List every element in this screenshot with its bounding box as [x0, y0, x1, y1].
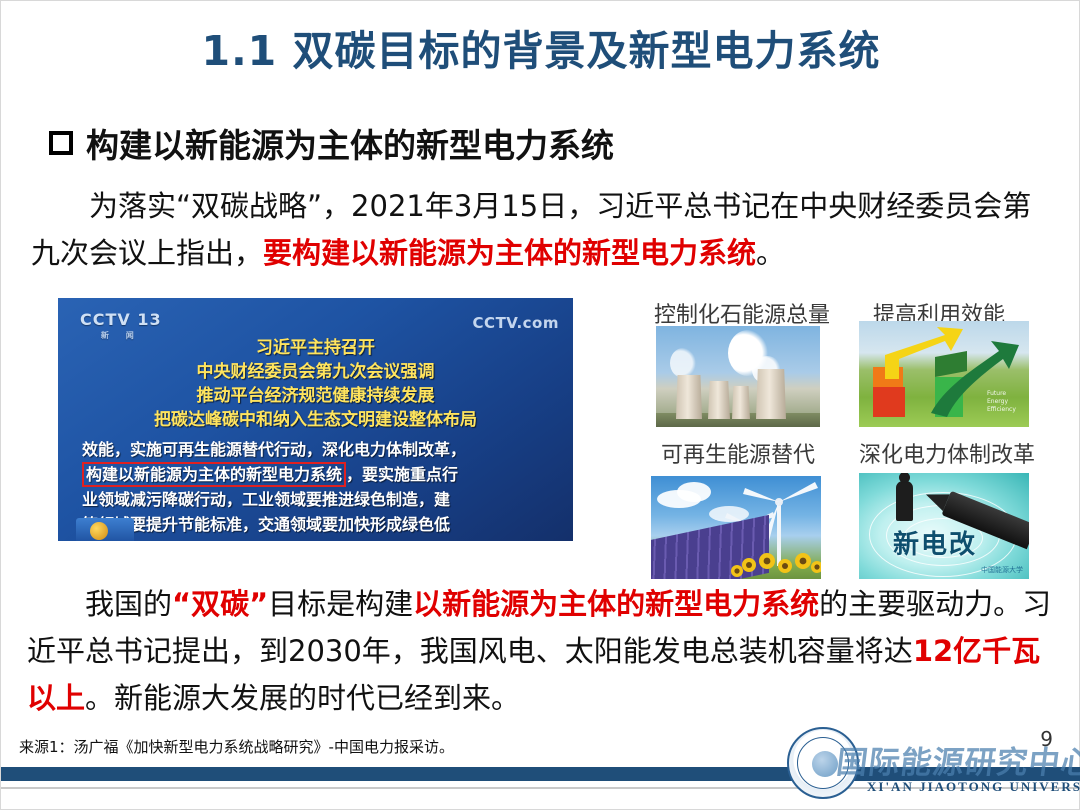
para-top-seg3: 。 [756, 236, 785, 270]
cctv-channel-number: 13 [137, 310, 161, 329]
cctv-news-screenshot: CCTV 13 新 闻 CCTV.com 习近平主持召开 中央财经委员会第九次会… [58, 298, 573, 541]
cctv-boxed-highlight: 构建以新能源为主体的新型电力系统 [82, 462, 346, 487]
para-bottom-seg3: 目标是构建 [268, 587, 413, 621]
photo4-person-icon [896, 481, 913, 521]
cctv-headline: 习近平主持召开 中央财经委员会第九次会议强调 推动平台经济规范健康持续发展 把碳… [58, 336, 573, 432]
photo-power-reform: 新电改 中国能源大学 [859, 473, 1029, 579]
cctv-body-line-1: 效能，实施可再生能源替代行动，深化电力体制改革， [82, 437, 552, 462]
photo1-plume-a [670, 348, 696, 378]
cctv-body-line-3: 业领域减污降碳行动，工业领域要推进绿色制造，建 [82, 487, 552, 512]
arrows-graphic-icon: Future Energy Efficiency [859, 321, 1029, 427]
svg-text:Energy: Energy [987, 398, 1008, 405]
cctv-headline-line-2: 中央财经委员会第九次会议强调 [58, 360, 573, 384]
photo1-tower-a [676, 375, 702, 419]
cctv-body-line-2: 构建以新能源为主体的新型电力系统，要实施重点行 [82, 462, 552, 487]
paragraph-top: 为落实“双碳战略”，2021年3月15日，习近平总书记在中央财经委员会第九次会议… [31, 183, 1051, 277]
photo-solar-wind [651, 476, 821, 579]
para-bottom-highlight-2: 以新能源为主体的新型电力系统 [413, 587, 819, 621]
organization-logo: 国际能源研究中心 XI'AN JIAOTONG UNIVERSITY [763, 723, 1063, 807]
source-note: 来源1：汤广福《加快新型电力系统战略研究》-中国电力报采访。 [19, 736, 454, 757]
para-bottom-seg1: 我国的 [85, 587, 172, 621]
cctv-ticker-body: 效能，实施可再生能源替代行动，深化电力体制改革， 构建以新能源为主体的新型电力系… [82, 437, 552, 537]
cctv-channel-name: CCTV [80, 310, 131, 329]
sunflowers-icon [651, 549, 821, 579]
cctv-headline-line-1: 习近平主持召开 [58, 336, 573, 360]
svg-text:Future: Future [987, 390, 1006, 397]
photo-caption-1: 控制化石能源总量 [654, 297, 830, 329]
para-bottom-highlight-1: “双碳” [172, 587, 268, 621]
page-title: 1.1 双碳目标的背景及新型电力系统 [1, 17, 1080, 77]
para-bottom-seg7: 。新能源大发展的时代已经到来。 [85, 681, 520, 715]
photo1-tower-b [708, 381, 730, 419]
svg-text:Efficiency: Efficiency [987, 406, 1016, 413]
cctv-headline-line-4: 把碳达峰碳中和纳入生态文明建设整体布局 [58, 408, 573, 432]
cctv-headline-line-3: 推动平台经济规范健康持续发展 [58, 384, 573, 408]
photo-caption-4: 深化电力体制改革 [859, 437, 1035, 469]
cctv-body-line-2-tail: ，要实施重点行 [346, 465, 458, 484]
photo-caption-3: 可再生能源替代 [661, 437, 815, 469]
photo-coal-cooling-towers [656, 326, 820, 427]
cctv-body-line-4: 筑领域要提升节能标准，交通领域要加快形成绿色低 [82, 512, 552, 537]
photo-efficiency-arrows: Future Energy Efficiency [859, 321, 1029, 427]
organization-name-en: XI'AN JIAOTONG UNIVERSITY [867, 779, 1080, 795]
para-top-highlight: 要构建以新能源为主体的新型电力系统 [263, 236, 756, 270]
organization-name-cn: 国际能源研究中心 [834, 737, 1080, 782]
square-bullet-icon [49, 131, 73, 155]
paragraph-bottom: 我国的“双碳”目标是构建以新能源为主体的新型电力系统的主要驱动力。习近平总书记提… [27, 581, 1057, 722]
photo4-headline: 新电改 [893, 524, 977, 561]
photo1-tower-d [756, 369, 786, 419]
cctv-watermark: CCTV.com [473, 314, 559, 332]
photo4-watermark: 中国能源大学 [981, 565, 1023, 575]
section-subheading: 构建以新能源为主体的新型电力系统 [49, 119, 614, 167]
slide-canvas: 1.1 双碳目标的背景及新型电力系统 构建以新能源为主体的新型电力系统 为落实“… [0, 0, 1080, 810]
photo1-tower-c [732, 386, 750, 419]
cctv-corner-badge-icon [76, 518, 134, 541]
section-subheading-label: 构建以新能源为主体的新型电力系统 [86, 119, 614, 167]
